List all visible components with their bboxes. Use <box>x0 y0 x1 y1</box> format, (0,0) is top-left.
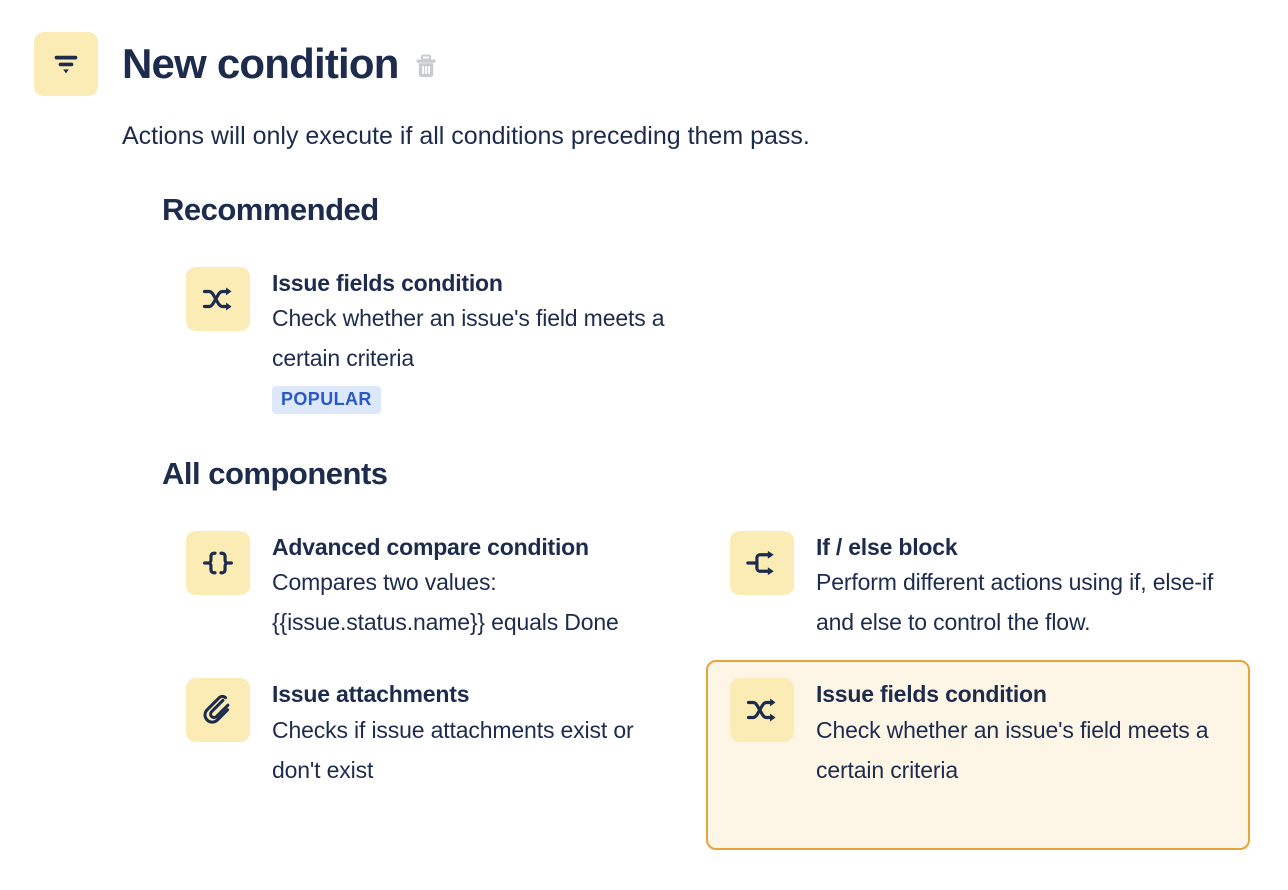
component-card-issue-fields-condition-selected[interactable]: Issue fields condition Check whether an … <box>706 660 1250 850</box>
component-card-issue-attachments[interactable]: Issue attachments Checks if issue attach… <box>162 660 706 850</box>
if-else-branch-icon <box>730 531 794 595</box>
page-subtitle: Actions will only execute if all conditi… <box>122 120 810 153</box>
section-title-all-components: All components <box>162 457 1262 491</box>
card-body: Advanced compare condition Compares two … <box>272 531 672 642</box>
card-description: Checks if issue attachments exist or don… <box>272 710 672 790</box>
page-title: New condition <box>122 43 399 85</box>
shuffle-icon <box>186 267 250 331</box>
card-body: Issue fields condition Check whether an … <box>816 678 1216 789</box>
card-grid-recommended: Issue fields condition Check whether an … <box>162 249 1262 432</box>
card-title: Advanced compare condition <box>272 532 672 562</box>
section-all-components: All components Advanced compare conditio… <box>162 457 1262 850</box>
card-body: If / else block Perform different action… <box>816 531 1216 642</box>
section-title-recommended: Recommended <box>162 193 1262 227</box>
card-description: Perform different actions using if, else… <box>816 562 1216 642</box>
shuffle-icon <box>730 678 794 742</box>
trash-icon[interactable] <box>413 51 439 81</box>
curly-braces-icon <box>186 531 250 595</box>
card-title: Issue attachments <box>272 679 672 709</box>
card-body: Issue attachments Checks if issue attach… <box>272 678 672 789</box>
page-header: New condition <box>34 32 439 96</box>
card-title: Issue fields condition <box>816 679 1216 709</box>
filter-icon <box>34 32 98 96</box>
card-description: Check whether an issue's field meets a c… <box>816 710 1216 790</box>
card-description: Compares two values: {{issue.status.name… <box>272 562 672 642</box>
status-badge-popular: POPULAR <box>272 386 381 414</box>
card-description: Check whether an issue's field meets a c… <box>272 298 672 378</box>
component-card-issue-fields-condition[interactable]: Issue fields condition Check whether an … <box>162 249 1262 432</box>
section-recommended: Recommended Issue fields condition Check… <box>162 193 1262 432</box>
card-title: If / else block <box>816 532 1216 562</box>
card-grid-all-components: Advanced compare condition Compares two … <box>162 513 1262 850</box>
title-row: New condition <box>122 32 439 96</box>
card-title: Issue fields condition <box>272 268 672 298</box>
component-card-if-else-block[interactable]: If / else block Perform different action… <box>706 513 1250 660</box>
paperclip-icon <box>186 678 250 742</box>
component-card-advanced-compare-condition[interactable]: Advanced compare condition Compares two … <box>162 513 706 660</box>
card-body: Issue fields condition Check whether an … <box>272 267 672 414</box>
